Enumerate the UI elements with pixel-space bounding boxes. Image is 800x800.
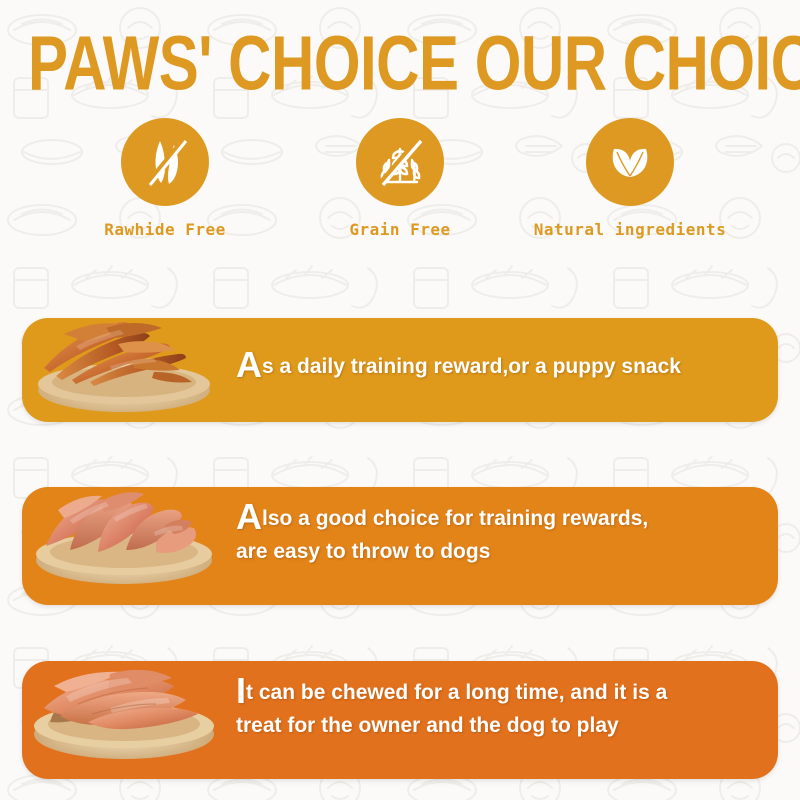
feature-line-1: s a daily training reward,or a puppy sna… xyxy=(262,355,681,378)
badge-circle xyxy=(586,118,674,206)
feature-line-2: are easy to throw to dogs xyxy=(236,535,776,568)
leaves-icon xyxy=(599,131,661,193)
product-photo-chicken-breast-slices xyxy=(14,440,234,590)
badge-natural-ingredients: Natural ingredients xyxy=(515,118,745,239)
badge-circle xyxy=(356,118,444,206)
badge-grain-free: Grain Free xyxy=(285,118,515,239)
feature-text-2: Also a good choice for training rewards,… xyxy=(236,500,776,568)
badge-label: Grain Free xyxy=(285,220,515,239)
feature-line-1: lso a good choice for training rewards, xyxy=(262,507,648,530)
page-title: PAWS' CHOICE OUR CHOICE xyxy=(28,24,772,103)
badge-label: Rawhide Free xyxy=(50,220,280,239)
feature-dropcap: A xyxy=(236,496,262,537)
badge-circle xyxy=(121,118,209,206)
feature-text-3: It can be chewed for a long time, and it… xyxy=(236,674,776,742)
grain-free-icon xyxy=(369,131,431,193)
product-photo-chicken-jerky-strips xyxy=(14,272,234,422)
badge-label: Natural ingredients xyxy=(515,220,745,239)
feature-line-1: t can be chewed for a long time, and it … xyxy=(246,681,667,704)
feature-text-1: As a daily training reward,or a puppy sn… xyxy=(236,348,776,383)
rawhide-free-icon xyxy=(134,131,196,193)
feature-dropcap: I xyxy=(236,670,246,711)
feature-dropcap: A xyxy=(236,344,262,385)
infographic-canvas: PAWS' CHOICE OUR CHOICE Rawhide Free xyxy=(0,0,800,800)
product-photo-large-jerky-fillets xyxy=(14,612,234,762)
badge-rawhide-free: Rawhide Free xyxy=(50,118,280,239)
feature-line-2: treat for the owner and the dog to play xyxy=(236,709,776,742)
